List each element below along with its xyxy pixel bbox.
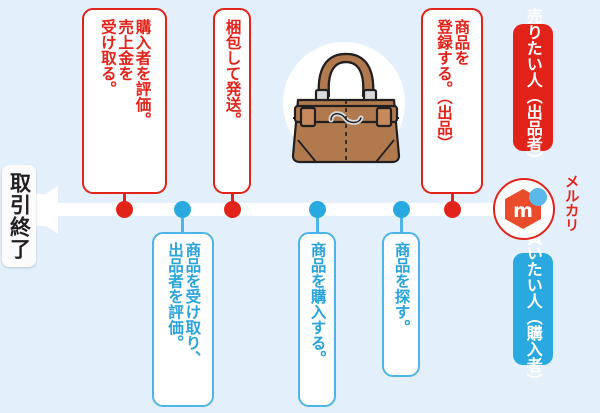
callout-seller-rate[interactable]: 購入者を評価。 売上金を 受け取る。 [82,8,167,194]
timeline-dot-buyer-search[interactable] [393,201,410,218]
callout-line: 商品を探す。 [392,242,409,335]
timeline-dot-buyer-purchase[interactable] [309,201,326,218]
role-badge-seller-label: 売りたい人（出品者） [524,8,542,168]
callout-line: 出品者を評価。 [166,242,183,351]
callout-line: 梱包して発送。 [223,19,240,128]
callout-seller-register[interactable]: 商品を 登録する。（出品） [421,8,483,194]
timeline-dot-seller-rate[interactable] [116,201,133,218]
mercari-brand-name: メルカリ [562,174,579,232]
diagram-canvas: 取引終了 購入者を評価。 売上金を 受け取る。 梱包して発送。 商品を 登録する… [0,0,600,413]
role-badge-buyer: 買いたい人（購入者） [513,253,553,365]
timeline-axis [34,203,554,216]
callout-line: 商品を [452,19,469,66]
mercari-letter-m: m [505,189,541,229]
timeline-dot-seller-register[interactable] [444,201,461,218]
callout-line: 商品を受け取り、 [183,242,200,366]
transaction-end-label: 取引終了 [2,165,36,267]
role-badge-seller: 売りたい人（出品者） [513,24,553,151]
callout-line: 購入者を評価。 [133,19,150,128]
callout-line: 商品を購入する。 [308,242,325,366]
callout-seller-ship[interactable]: 梱包して発送。 [213,8,251,194]
handbag-icon [283,38,409,168]
timeline-dot-seller-ship[interactable] [224,201,241,218]
timeline-dot-buyer-receive[interactable] [174,201,191,218]
callout-buyer-search[interactable]: 商品を探す。 [382,232,420,377]
mercari-logo: m [493,178,555,240]
transaction-end-text: 取引終了 [9,172,30,260]
callout-line: 売上金を [116,19,133,81]
callout-line: 受け取る。 [98,19,115,97]
callout-line: 登録する。（出品） [435,19,452,151]
callout-buyer-receive[interactable]: 商品を受け取り、 出品者を評価。 [152,232,214,407]
callout-buyer-purchase[interactable]: 商品を購入する。 [298,232,336,407]
role-badge-buyer-label: 買いたい人（購入者） [524,229,542,389]
